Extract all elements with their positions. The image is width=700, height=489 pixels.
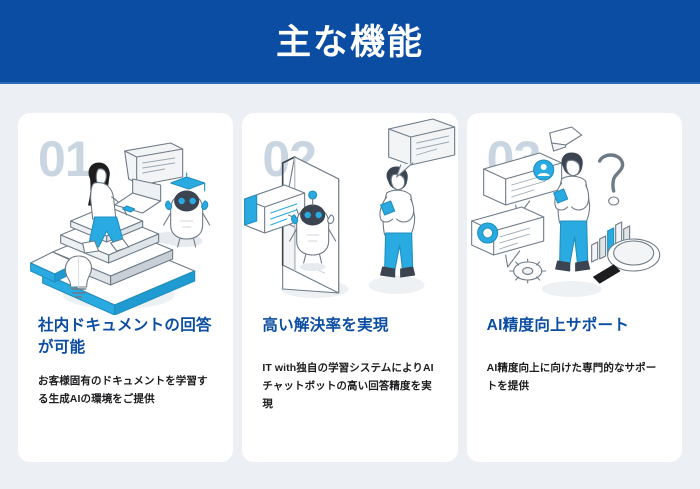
card-title: AI精度向上サポート	[487, 315, 662, 337]
card-text-block: 高い解決率を実現 IT with独自の学習システムによりAIチャットボットの高い…	[242, 315, 457, 413]
feature-section-page: 主な機能 01	[0, 0, 700, 489]
feature-card-03[interactable]: 03	[467, 113, 682, 462]
card-text-block: AI精度向上サポート AI精度向上に向けた専門的なサポートを提供	[467, 315, 682, 395]
card-description: AI精度向上に向けた専門的なサポートを提供	[487, 359, 662, 395]
card-description: IT with独自の学習システムによりAIチャットボットの高い回答精度を実現	[262, 359, 437, 413]
card-title: 社内ドキュメントの回答が可能	[38, 315, 213, 359]
card-description: お客様固有のドキュメントを学習する生成AIの環境をご提供	[38, 372, 213, 408]
illustration-woman-on-books-with-laptop-and-graduate-robot	[18, 113, 233, 315]
feature-card-list: 01	[18, 113, 682, 462]
feature-card-01[interactable]: 01	[18, 113, 233, 462]
illustration-smartphone-chatbot-and-person-messaging	[242, 113, 457, 315]
card-title: 高い解決率を実現	[262, 315, 437, 337]
feature-card-02[interactable]: 02	[242, 113, 457, 462]
card-text-block: 社内ドキュメントの回答が可能 お客様固有のドキュメントを学習する生成AIの環境を…	[18, 315, 233, 408]
illustration-person-analyzing-chat-data-with-magnifier	[467, 113, 682, 315]
page-title: 主な機能	[276, 25, 424, 60]
section-header-band: 主な機能	[0, 0, 700, 84]
